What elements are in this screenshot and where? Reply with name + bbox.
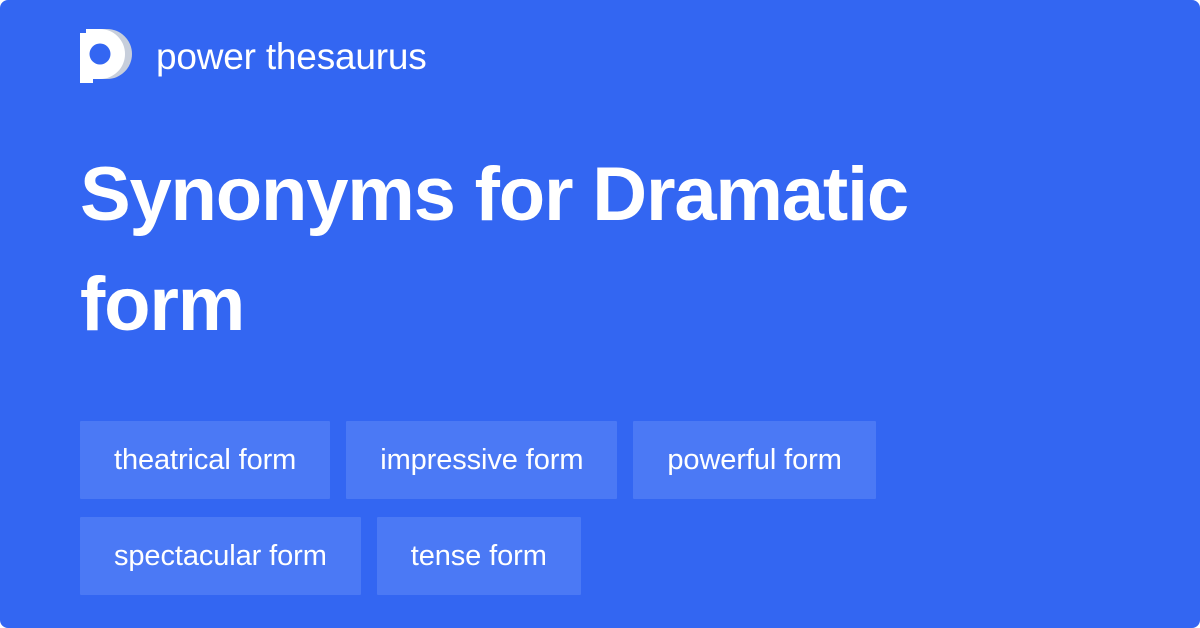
share-card: power thesaurus Synonyms for Dramatic fo… bbox=[0, 0, 1200, 628]
brand-wordmark: power thesaurus bbox=[156, 38, 427, 75]
power-thesaurus-logo-icon bbox=[80, 29, 132, 83]
synonym-chip[interactable]: impressive form bbox=[346, 421, 617, 499]
synonym-chip-list: theatrical form impressive form powerful… bbox=[80, 421, 1120, 595]
brand-header[interactable]: power thesaurus bbox=[80, 28, 427, 84]
synonym-chip[interactable]: tense form bbox=[377, 517, 581, 595]
synonym-chip[interactable]: spectacular form bbox=[80, 517, 361, 595]
page-title: Synonyms for Dramatic form bbox=[80, 140, 1080, 360]
synonym-chip[interactable]: theatrical form bbox=[80, 421, 330, 499]
synonym-chip[interactable]: powerful form bbox=[633, 421, 875, 499]
